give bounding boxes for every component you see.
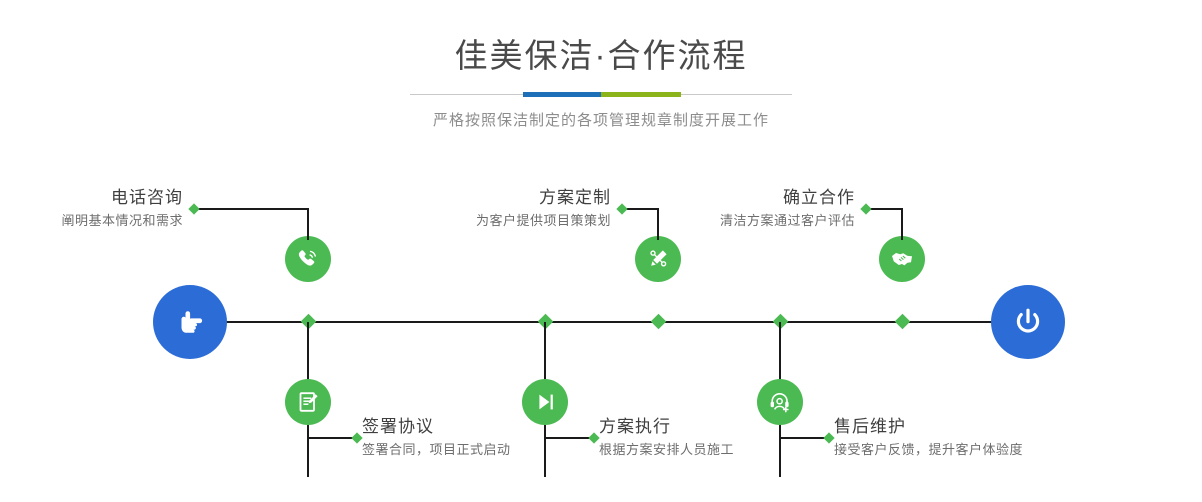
infographic-root: 佳美保洁·合作流程 严格按照保洁制定的各项管理规章制度开展工作 <box>0 0 1202 502</box>
play-execute-icon[interactable] <box>522 379 568 425</box>
page-title: 佳美保洁·合作流程 <box>0 34 1202 78</box>
flow-step-5-desc: 清洁方案通过客户评估 <box>577 210 855 231</box>
power-icon <box>1008 302 1048 342</box>
label-connector-run <box>194 208 308 210</box>
flow-step-1-label: 电话咨询 阐明基本情况和需求 <box>0 186 183 231</box>
divider-segment-blue <box>523 92 601 97</box>
label-connector-run <box>307 437 355 439</box>
flow-step-1-title: 电话咨询 <box>0 186 183 210</box>
flow-step-5-title: 确立合作 <box>577 186 855 210</box>
label-connector-run <box>779 437 827 439</box>
axis-marker-diamond <box>650 313 666 329</box>
label-connector-riser <box>901 208 903 240</box>
headset-support-icon[interactable] <box>757 379 803 425</box>
label-tip-diamond <box>351 432 362 443</box>
label-connector-riser <box>544 425 546 477</box>
connector-stem <box>779 322 781 379</box>
flow-step-3-desc: 为客户提供项目策策划 <box>333 210 611 231</box>
phone-call-icon[interactable] <box>285 236 331 282</box>
title-divider <box>410 92 792 97</box>
flow-step-6-title: 售后维护 <box>834 415 1164 439</box>
label-tip-diamond <box>860 203 871 214</box>
page-subtitle: 严格按照保洁制定的各项管理规章制度开展工作 <box>0 110 1202 132</box>
label-connector-riser <box>779 425 781 477</box>
label-connector-run <box>544 437 592 439</box>
connector-stem <box>544 322 546 379</box>
hand-pointing-icon <box>170 302 210 342</box>
flow-step-3-title: 方案定制 <box>333 186 611 210</box>
flow-step-3-label: 方案定制 为客户提供项目策策划 <box>333 186 611 231</box>
axis-marker-diamond <box>894 313 910 329</box>
document-sign-icon[interactable] <box>285 379 331 425</box>
divider-segment-green <box>601 92 681 97</box>
flow-step-6-desc: 接受客户反馈，提升客户体验度 <box>834 439 1164 460</box>
header: 佳美保洁·合作流程 严格按照保洁制定的各项管理规章制度开展工作 <box>0 34 1202 132</box>
label-connector-riser <box>307 425 309 477</box>
flow-step-5-label: 确立合作 清洁方案通过客户评估 <box>577 186 855 231</box>
pencil-design-icon[interactable] <box>635 236 681 282</box>
label-tip-diamond <box>188 203 199 214</box>
flow-end-node <box>991 285 1065 359</box>
label-connector-riser <box>307 208 309 240</box>
flow-step-6-label: 售后维护 接受客户反馈，提升客户体验度 <box>834 415 1164 460</box>
process-flow-diagram: 电话咨询 阐明基本情况和需求 签署协议 签署合同，项目正式启动 <box>0 160 1202 502</box>
connector-stem <box>307 322 309 379</box>
flow-start-node <box>153 285 227 359</box>
handshake-icon[interactable] <box>879 236 925 282</box>
flow-step-1-desc: 阐明基本情况和需求 <box>0 210 183 231</box>
